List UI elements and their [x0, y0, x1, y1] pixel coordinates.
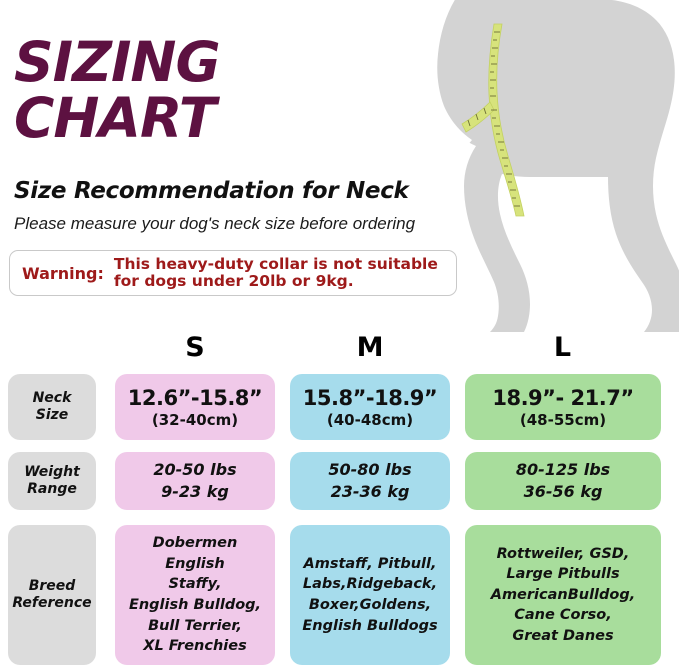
neck-size-medium-inches: 15.8”-18.9”: [303, 386, 437, 410]
breed-medium-line-1: Amstaff, Pitbull,: [302, 554, 437, 575]
row-label-weight-range-line-2: Range: [27, 481, 77, 499]
breed-medium-line-2: Labs,Ridgeback,: [302, 574, 437, 595]
measure-instruction: Please measure your dog's neck size befo…: [14, 214, 415, 234]
title-line-2: CHART: [14, 92, 434, 146]
cell-breed-medium: Amstaff, Pitbull, Labs,Ridgeback, Boxer,…: [290, 525, 450, 665]
breed-large-list: Rottweiler, GSD, Large Pitbulls American…: [485, 544, 642, 647]
row-label-neck-size-line-2: Size: [36, 407, 69, 425]
dog-silhouette-icon: [429, 0, 679, 332]
breed-small-line-3: English Bulldog,: [121, 595, 269, 616]
neck-size-small-inches: 12.6”-15.8”: [128, 386, 262, 410]
cell-neck-size-medium: 15.8”-18.9” (40-48cm): [290, 374, 450, 440]
warning-label: Warning:: [22, 264, 104, 283]
breed-small-line-1: Dobermen English: [121, 533, 269, 574]
weight-small-lbs: 20-50 lbs: [153, 459, 236, 481]
breed-small-line-5: XL Frenchies: [121, 636, 269, 657]
breed-large-line-4: Cane Corso,: [491, 605, 636, 626]
cell-neck-size-small: 12.6”-15.8” (32-40cm): [115, 374, 275, 440]
page-subtitle: Size Recommendation for Neck: [14, 178, 409, 204]
neck-size-large-inches: 18.9”- 21.7”: [492, 386, 633, 410]
title-line-1: SIZING: [14, 36, 434, 90]
measuring-tape-icon: [462, 24, 524, 216]
breed-large-line-3: AmericanBulldog,: [491, 585, 636, 606]
warning-message-line-1: This heavy-duty collar is not suitable: [114, 256, 438, 273]
weight-large-kg: 36-56 kg: [524, 481, 603, 503]
row-label-breed-reference-line-1: Breed: [29, 578, 76, 596]
breed-medium-line-4: English Bulldogs: [302, 616, 437, 637]
weight-large-lbs: 80-125 lbs: [516, 459, 610, 481]
cell-weight-range-small: 20-50 lbs 9-23 kg: [115, 452, 275, 510]
row-label-breed-reference-line-2: Reference: [12, 595, 91, 613]
warning-message-line-2: for dogs under 20lb or 9kg.: [114, 273, 438, 290]
breed-medium-list: Amstaff, Pitbull, Labs,Ridgeback, Boxer,…: [296, 554, 443, 636]
row-label-weight-range: Weight Range: [8, 452, 96, 510]
sizing-chart-page: SIZING CHART Size Recommendation for Nec…: [0, 0, 679, 672]
row-label-neck-size: Neck Size: [8, 374, 96, 440]
weight-small-kg: 9-23 kg: [161, 481, 229, 503]
page-title: SIZING CHART: [14, 36, 434, 146]
cell-weight-range-large: 80-125 lbs 36-56 kg: [465, 452, 661, 510]
neck-size-large-cm: (48-55cm): [520, 411, 606, 429]
size-header-m: M: [290, 332, 450, 363]
row-label-neck-size-line-1: Neck: [33, 390, 72, 408]
size-header-l: L: [465, 332, 660, 363]
cell-weight-range-medium: 50-80 lbs 23-36 kg: [290, 452, 450, 510]
cell-breed-small: Dobermen English Staffy, English Bulldog…: [115, 525, 275, 665]
weight-medium-lbs: 50-80 lbs: [328, 459, 411, 481]
cell-breed-large: Rottweiler, GSD, Large Pitbulls American…: [465, 525, 661, 665]
breed-medium-line-3: Boxer,Goldens,: [302, 595, 437, 616]
neck-size-small-cm: (32-40cm): [152, 411, 238, 429]
warning-message: This heavy-duty collar is not suitable f…: [114, 256, 438, 289]
weight-medium-kg: 23-36 kg: [331, 481, 410, 503]
breed-small-line-2: Staffy,: [121, 574, 269, 595]
neck-size-medium-cm: (40-48cm): [327, 411, 413, 429]
breed-large-line-1: Rottweiler, GSD,: [491, 544, 636, 565]
warning-box: Warning: This heavy-duty collar is not s…: [9, 250, 457, 296]
breed-small-line-4: Bull Terrier,: [121, 616, 269, 637]
breed-large-line-5: Great Danes: [491, 626, 636, 647]
size-header-s: S: [115, 332, 275, 363]
cell-neck-size-large: 18.9”- 21.7” (48-55cm): [465, 374, 661, 440]
breed-large-line-2: Large Pitbulls: [491, 564, 636, 585]
breed-small-list: Dobermen English Staffy, English Bulldog…: [115, 533, 275, 657]
row-label-breed-reference: Breed Reference: [8, 525, 96, 665]
row-label-weight-range-line-1: Weight: [24, 464, 80, 482]
